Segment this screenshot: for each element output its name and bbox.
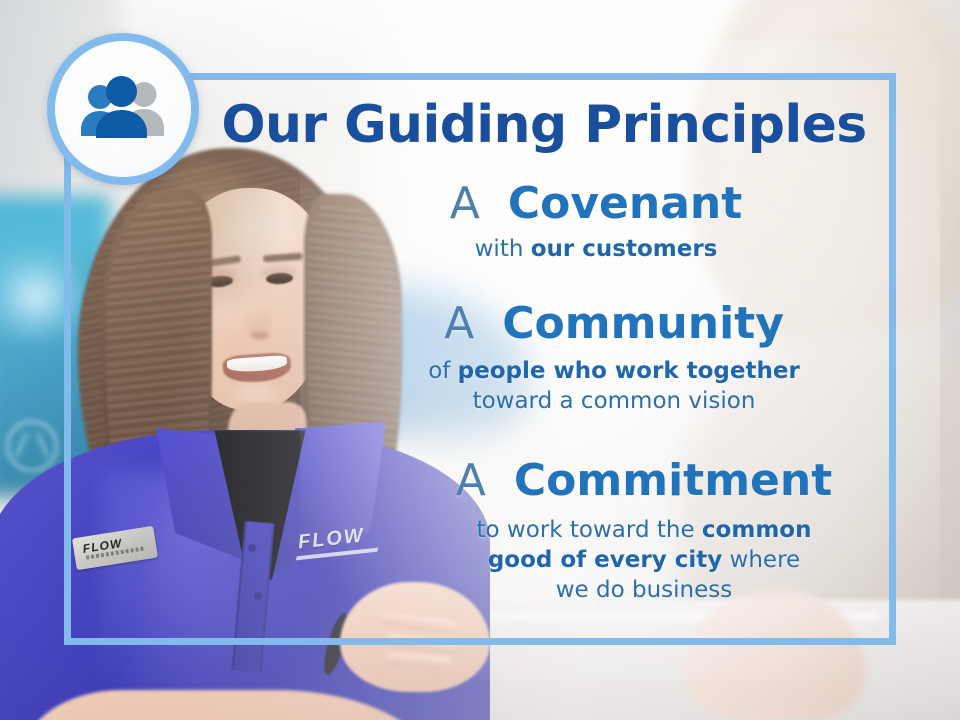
- principle-title: A Commitment: [394, 458, 894, 504]
- principle-body: of people who work togethertoward a comm…: [334, 357, 894, 417]
- principle-covenant: A Covenant with our customers: [296, 181, 896, 265]
- page-title: Our Guiding Principles: [214, 99, 874, 152]
- principle-article: A: [444, 298, 474, 349]
- principle-title: A Community: [334, 301, 894, 347]
- poster-canvas: FLOW FLOW: [0, 0, 960, 720]
- principle-community: A Community of people who work togethert…: [334, 301, 894, 417]
- content-layer: Our Guiding Principles A Covenant with o…: [64, 73, 896, 645]
- principle-article: A: [450, 178, 480, 229]
- principle-article: A: [456, 455, 486, 506]
- principle-body: with our customers: [296, 235, 896, 265]
- principle-title: A Covenant: [296, 181, 896, 227]
- principle-keyword: Covenant: [508, 178, 742, 229]
- principle-keyword: Community: [502, 298, 784, 349]
- principle-keyword: Commitment: [514, 455, 832, 506]
- principle-commitment: A Commitment to work toward the commongo…: [394, 458, 894, 605]
- photo-display-logo: [6, 420, 58, 472]
- principle-body: to work toward the commongood of every c…: [394, 516, 894, 606]
